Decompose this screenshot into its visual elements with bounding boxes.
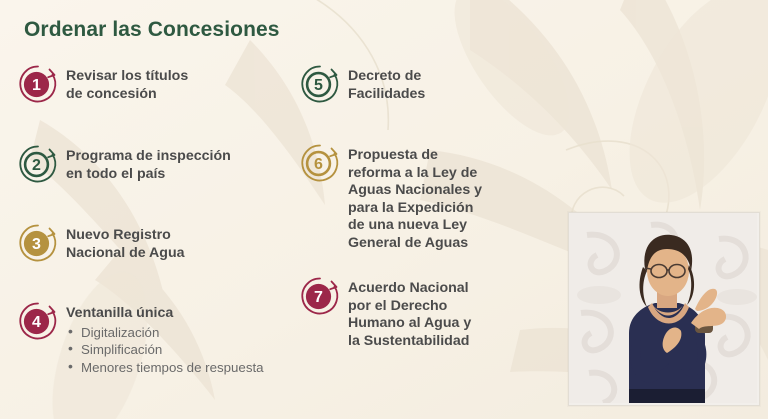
step-item-3: 3 Nuevo Registro Nacional de Agua (14, 221, 294, 269)
step-4-bullet-list: Digitalización Simplificación Menores ti… (66, 324, 264, 377)
step-item-4: 4 Ventanilla única Digitalización Simpli… (14, 299, 294, 376)
presentation-slide: Ordenar las Concesiones 1 Revisar los tí… (0, 0, 768, 419)
steps-column-left: 1 Revisar los títulos de concesión 2 Pro… (14, 62, 294, 376)
list-item: Menores tiempos de respuesta (66, 359, 264, 377)
step-line: de una nueva Ley (348, 217, 482, 235)
step-badge-2: 2 (14, 142, 66, 190)
step-line: Nacional de Agua (66, 245, 185, 263)
step-line: en todo el país (66, 166, 231, 184)
step-line: para la Expedición (348, 200, 482, 218)
steps-column-right: 5 Decreto de Facilidades 6 Propuesta de (296, 62, 546, 350)
step-item-1: 1 Revisar los títulos de concesión (14, 62, 294, 110)
list-item: Digitalización (66, 324, 264, 342)
sign-language-interpreter-video[interactable] (568, 212, 760, 406)
step-line: Aguas Nacionales y (348, 182, 482, 200)
step-badge-4: 4 (14, 299, 66, 347)
step-text-1: Revisar los títulos de concesión (66, 62, 188, 103)
step-line: de concesión (66, 86, 188, 104)
step-line: Programa de inspección (66, 148, 231, 166)
step-item-5: 5 Decreto de Facilidades (296, 62, 546, 110)
step-number-7: 7 (314, 289, 323, 306)
step-line: Revisar los títulos (66, 68, 188, 86)
step-line: Propuesta de (348, 147, 482, 165)
step-badge-1: 1 (14, 62, 66, 110)
step-text-4: Ventanilla única Digitalización Simplifi… (66, 299, 264, 376)
step-text-7: Acuerdo Nacional por el Derecho Humano a… (348, 274, 471, 350)
step-text-2: Programa de inspección en todo el país (66, 142, 231, 183)
list-item: Simplificación (66, 341, 264, 359)
step-line: Humano al Agua y (348, 315, 471, 333)
step-number-2: 2 (32, 157, 41, 174)
step-line: Facilidades (348, 86, 425, 104)
step-badge-7: 7 (296, 274, 348, 322)
step-badge-5: 5 (296, 62, 348, 110)
step-number-4: 4 (32, 314, 41, 331)
step-item-6: 6 Propuesta de reforma a la Ley de Aguas… (296, 141, 546, 252)
step-number-5: 5 (314, 77, 323, 94)
step-line: Ventanilla única (66, 305, 264, 323)
step-item-7: 7 Acuerdo Nacional por el Derecho Humano… (296, 274, 546, 350)
page-title: Ordenar las Concesiones (24, 18, 280, 42)
step-item-2: 2 Programa de inspección en todo el país (14, 142, 294, 190)
step-text-3: Nuevo Registro Nacional de Agua (66, 221, 185, 262)
step-line: reforma a la Ley de (348, 165, 482, 183)
step-badge-6: 6 (296, 141, 348, 189)
step-number-3: 3 (32, 236, 41, 253)
step-line: por el Derecho (348, 298, 471, 316)
step-text-6: Propuesta de reforma a la Ley de Aguas N… (348, 141, 482, 252)
step-number-1: 1 (32, 77, 41, 94)
step-line: Decreto de (348, 68, 425, 86)
step-line: Nuevo Registro (66, 227, 185, 245)
step-badge-3: 3 (14, 221, 66, 269)
step-line: General de Aguas (348, 235, 482, 253)
step-line: la Sustentabilidad (348, 333, 471, 351)
step-number-6: 6 (314, 156, 323, 173)
step-text-5: Decreto de Facilidades (348, 62, 425, 103)
step-line: Acuerdo Nacional (348, 280, 471, 298)
